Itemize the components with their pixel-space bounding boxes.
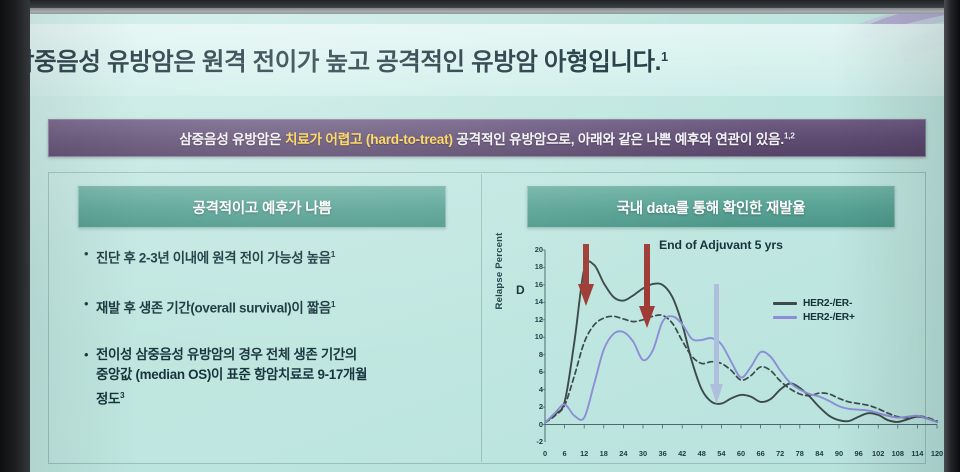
reference-superscript: 1: [331, 299, 335, 309]
bullet-marker-icon: •: [82, 345, 96, 409]
screen-capture: 삼중음성 유방암은 원격 전이가 높고 공격적인 유방암 아형입니다.1 삼중음…: [0, 0, 960, 472]
banner-text: 삼중음성 유방암은 치료가 어렵고 (hard-to-treat) 공격적인 유…: [179, 128, 794, 148]
list-item-line: 재발 후 생존 기간(overall survival)이 짧음1: [96, 294, 335, 318]
list-item-text: 진단 후 2-3년 이내에 원격 전이 가능성 높음1: [96, 244, 335, 268]
chart-y-axis-label: Relapse Percent: [494, 211, 505, 331]
end-of-adjuvant-line: [710, 284, 717, 404]
relapse-percent-chart: D Relapse Percent -202468101214161820 06…: [511, 236, 944, 466]
chart-legend: HER2-/ER-HER2-/ER+: [773, 298, 855, 326]
list-item: •전이성 삼중음성 유방암의 경우 전체 생존 기간의중앙값 (median O…: [82, 345, 482, 409]
reference-superscript: 3: [120, 390, 124, 400]
right-panel-header-label: 국내 data를 통해 확인한 재발율: [617, 197, 806, 218]
list-item-text: 재발 후 생존 기간(overall survival)이 짧음1: [96, 294, 335, 318]
legend-item: HER2-/ER+: [773, 312, 855, 323]
legend-label: HER2-/ER-: [803, 298, 852, 309]
list-item: •진단 후 2-3년 이내에 원격 전이 가능성 높음1: [82, 244, 482, 268]
left-panel-header: 공격적이고 예후가 나쁨: [78, 186, 446, 228]
chart-series-line: [545, 316, 937, 423]
list-item-line: 전이성 삼중음성 유방암의 경우 전체 생존 기간의: [96, 345, 367, 365]
down-arrow-icon-2: [639, 244, 655, 328]
key-message-banner: 삼중음성 유방암은 치료가 어렵고 (hard-to-treat) 공격적인 유…: [48, 119, 926, 157]
down-arrow-icon-1: [578, 244, 594, 306]
left-panel-header-label: 공격적이고 예후가 나쁨: [192, 197, 331, 218]
page-title: 삼중음성 유방암은 원격 전이가 높고 공격적인 유방암 아형입니다.1: [30, 43, 668, 78]
list-item-text: 전이성 삼중음성 유방암의 경우 전체 생존 기간의중앙값 (median OS…: [96, 345, 367, 409]
list-item-line: 중앙값 (median OS)이 표준 항암치료로 9-17개월: [96, 365, 367, 385]
slide-title-bar: 삼중음성 유방암은 원격 전이가 높고 공격적인 유방암 아형입니다.1: [30, 24, 944, 96]
legend-swatch: [773, 316, 797, 319]
chart-series-line: [545, 261, 937, 422]
reference-superscript: 1: [331, 249, 335, 259]
banner-highlight: 치료가 어렵고 (hard-to-treat): [285, 132, 453, 147]
legend-label: HER2-/ER+: [803, 312, 855, 323]
chart-series-line: [545, 315, 937, 423]
list-item: •재발 후 생존 기간(overall survival)이 짧음1: [82, 294, 482, 318]
legend-item: HER2-/ER-: [773, 298, 855, 309]
projector-bezel-left: [0, 0, 30, 472]
list-item-line: 진단 후 2-3년 이내에 원격 전이 가능성 높음1: [96, 244, 335, 268]
legend-swatch: [773, 302, 797, 305]
right-panel-header: 국내 data를 통해 확인한 재발율: [527, 186, 895, 228]
list-item-line: 정도3: [96, 385, 367, 409]
chart-plot-area: [511, 236, 944, 466]
presentation-slide: 삼중음성 유방암은 원격 전이가 높고 공격적인 유방암 아형입니다.1 삼중음…: [30, 14, 944, 472]
bullet-marker-icon: •: [82, 244, 96, 268]
end-of-adjuvant-annotation: End of Adjuvant 5 yrs: [659, 238, 783, 252]
projector-bezel-right: [944, 0, 960, 472]
bullet-marker-icon: •: [82, 294, 96, 318]
bullet-list: •진단 후 2-3년 이내에 원격 전이 가능성 높음1•재발 후 생존 기간(…: [82, 244, 482, 435]
